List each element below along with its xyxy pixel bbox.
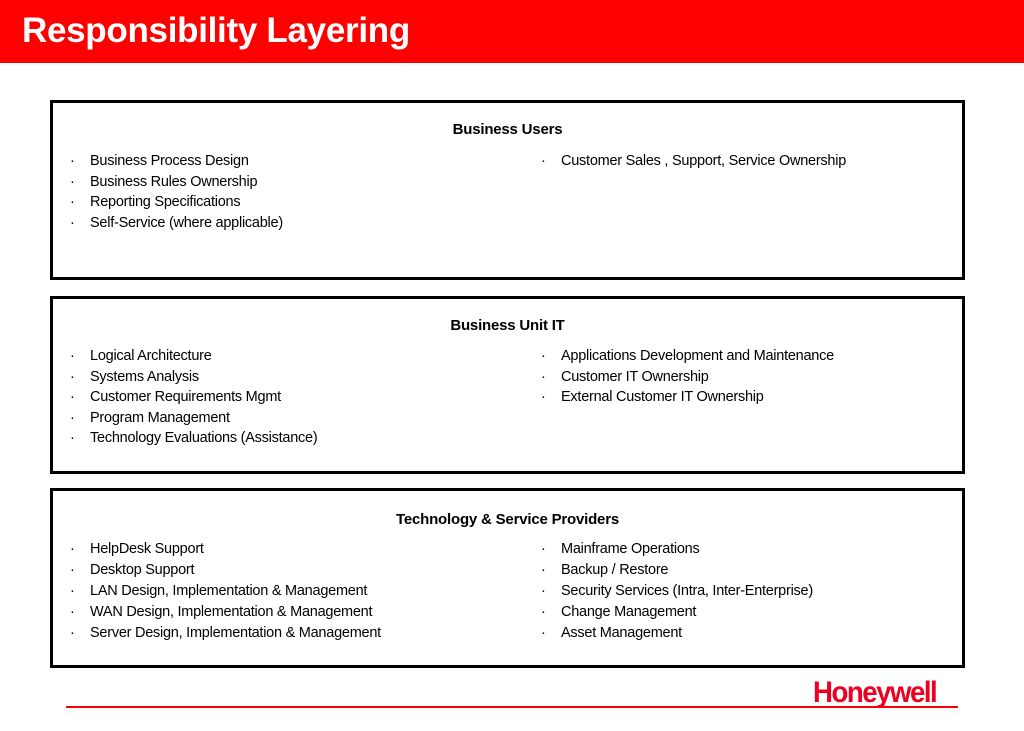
bullet-dot-icon: · bbox=[70, 428, 75, 449]
bullet-dot-icon: · bbox=[70, 560, 75, 581]
list-item: ·Customer IT Ownership bbox=[538, 367, 953, 388]
layer-column-left: ·HelpDesk Support ·Desktop Support ·LAN … bbox=[53, 539, 533, 644]
bullet-dot-icon: · bbox=[541, 602, 546, 623]
list-item-label: Customer Requirements Mgmt bbox=[90, 389, 281, 405]
bullet-dot-icon: · bbox=[541, 623, 546, 644]
list-item-label: Mainframe Operations bbox=[561, 541, 699, 557]
list-item: ·WAN Design, Implementation & Management bbox=[67, 602, 533, 623]
layer-columns: ·HelpDesk Support ·Desktop Support ·LAN … bbox=[53, 539, 962, 644]
list-item: ·LAN Design, Implementation & Management bbox=[67, 581, 533, 602]
list-item-label: WAN Design, Implementation & Management bbox=[90, 604, 372, 620]
list-item: ·HelpDesk Support bbox=[67, 539, 533, 560]
bullet-dot-icon: · bbox=[70, 151, 75, 172]
list-item: ·Customer Requirements Mgmt bbox=[67, 387, 533, 408]
list-item-label: Server Design, Implementation & Manageme… bbox=[90, 625, 381, 641]
bullet-list: ·Mainframe Operations ·Backup / Restore … bbox=[538, 539, 953, 644]
bullet-dot-icon: · bbox=[70, 581, 75, 602]
layer-columns: ·Business Process Design ·Business Rules… bbox=[53, 151, 962, 233]
bullet-dot-icon: · bbox=[70, 387, 75, 408]
list-item-label: Desktop Support bbox=[90, 562, 194, 578]
list-item: ·Server Design, Implementation & Managem… bbox=[67, 623, 533, 644]
list-item: ·Business Process Design bbox=[67, 151, 533, 172]
bullet-dot-icon: · bbox=[70, 172, 75, 193]
list-item: ·Backup / Restore bbox=[538, 560, 953, 581]
list-item: ·Logical Architecture bbox=[67, 346, 533, 367]
list-item: ·Business Rules Ownership bbox=[67, 172, 533, 193]
list-item-label: Asset Management bbox=[561, 625, 682, 641]
layer-column-left: ·Business Process Design ·Business Rules… bbox=[53, 151, 533, 233]
list-item: ·Technology Evaluations (Assistance) bbox=[67, 428, 533, 449]
bullet-list: ·Business Process Design ·Business Rules… bbox=[67, 151, 533, 233]
list-item-label: Customer IT Ownership bbox=[561, 369, 709, 385]
list-item-label: Self-Service (where applicable) bbox=[90, 215, 283, 231]
list-item-label: LAN Design, Implementation & Management bbox=[90, 583, 367, 599]
bullet-dot-icon: · bbox=[70, 346, 75, 367]
bullet-dot-icon: · bbox=[541, 151, 546, 172]
bullet-dot-icon: · bbox=[541, 387, 546, 408]
bullet-list: ·Customer Sales , Support, Service Owner… bbox=[538, 151, 953, 172]
bullet-dot-icon: · bbox=[541, 346, 546, 367]
bullet-list: ·Logical Architecture ·Systems Analysis … bbox=[67, 346, 533, 449]
list-item: ·Mainframe Operations bbox=[538, 539, 953, 560]
list-item: ·External Customer IT Ownership bbox=[538, 387, 953, 408]
list-item: ·Security Services (Intra, Inter-Enterpr… bbox=[538, 581, 953, 602]
honeywell-logo: Honeywell bbox=[813, 676, 936, 710]
list-item: ·Systems Analysis bbox=[67, 367, 533, 388]
list-item-label: Change Management bbox=[561, 604, 696, 620]
bullet-dot-icon: · bbox=[70, 539, 75, 560]
page-title: Responsibility Layering bbox=[22, 11, 410, 51]
bullet-dot-icon: · bbox=[70, 408, 75, 429]
list-item-label: Business Process Design bbox=[90, 153, 249, 169]
layer-column-right: ·Customer Sales , Support, Service Owner… bbox=[533, 151, 953, 233]
list-item-label: Customer Sales , Support, Service Owners… bbox=[561, 153, 846, 169]
bullet-list: ·Applications Development and Maintenanc… bbox=[538, 346, 953, 408]
layer-box-business-unit-it: Business Unit IT ·Logical Architecture ·… bbox=[50, 296, 965, 474]
bullet-dot-icon: · bbox=[70, 602, 75, 623]
list-item-label: Security Services (Intra, Inter-Enterpri… bbox=[561, 583, 813, 599]
layer-heading: Technology & Service Providers bbox=[53, 511, 962, 528]
layer-heading: Business Users bbox=[53, 121, 962, 138]
bullet-dot-icon: · bbox=[541, 367, 546, 388]
layer-column-left: ·Logical Architecture ·Systems Analysis … bbox=[53, 346, 533, 449]
list-item: ·Change Management bbox=[538, 602, 953, 623]
list-item-label: HelpDesk Support bbox=[90, 541, 204, 557]
list-item: ·Reporting Specifications bbox=[67, 192, 533, 213]
list-item-label: Backup / Restore bbox=[561, 562, 668, 578]
list-item: ·Self-Service (where applicable) bbox=[67, 213, 533, 234]
layer-column-right: ·Mainframe Operations ·Backup / Restore … bbox=[533, 539, 953, 644]
list-item-label: Logical Architecture bbox=[90, 348, 212, 364]
list-item-label: Systems Analysis bbox=[90, 369, 199, 385]
bullet-dot-icon: · bbox=[70, 367, 75, 388]
list-item-label: Applications Development and Maintenance bbox=[561, 348, 834, 364]
bullet-dot-icon: · bbox=[541, 581, 546, 602]
layer-heading: Business Unit IT bbox=[53, 317, 962, 334]
bullet-dot-icon: · bbox=[70, 192, 75, 213]
list-item-label: Reporting Specifications bbox=[90, 194, 240, 210]
slide-header-band: Responsibility Layering bbox=[0, 0, 1024, 63]
list-item: ·Applications Development and Maintenanc… bbox=[538, 346, 953, 367]
layer-box-technology-service-providers: Technology & Service Providers ·HelpDesk… bbox=[50, 488, 965, 668]
list-item: ·Asset Management bbox=[538, 623, 953, 644]
list-item-label: Business Rules Ownership bbox=[90, 174, 257, 190]
layer-box-business-users: Business Users ·Business Process Design … bbox=[50, 100, 965, 280]
list-item: ·Desktop Support bbox=[67, 560, 533, 581]
list-item: ·Program Management bbox=[67, 408, 533, 429]
list-item-label: Program Management bbox=[90, 410, 230, 426]
list-item: ·Customer Sales , Support, Service Owner… bbox=[538, 151, 953, 172]
bullet-dot-icon: · bbox=[541, 539, 546, 560]
list-item-label: Technology Evaluations (Assistance) bbox=[90, 430, 317, 446]
layer-columns: ·Logical Architecture ·Systems Analysis … bbox=[53, 346, 962, 449]
bullet-dot-icon: · bbox=[70, 213, 75, 234]
bullet-list: ·HelpDesk Support ·Desktop Support ·LAN … bbox=[67, 539, 533, 644]
layer-column-right: ·Applications Development and Maintenanc… bbox=[533, 346, 953, 449]
list-item-label: External Customer IT Ownership bbox=[561, 389, 764, 405]
bullet-dot-icon: · bbox=[541, 560, 546, 581]
bullet-dot-icon: · bbox=[70, 623, 75, 644]
